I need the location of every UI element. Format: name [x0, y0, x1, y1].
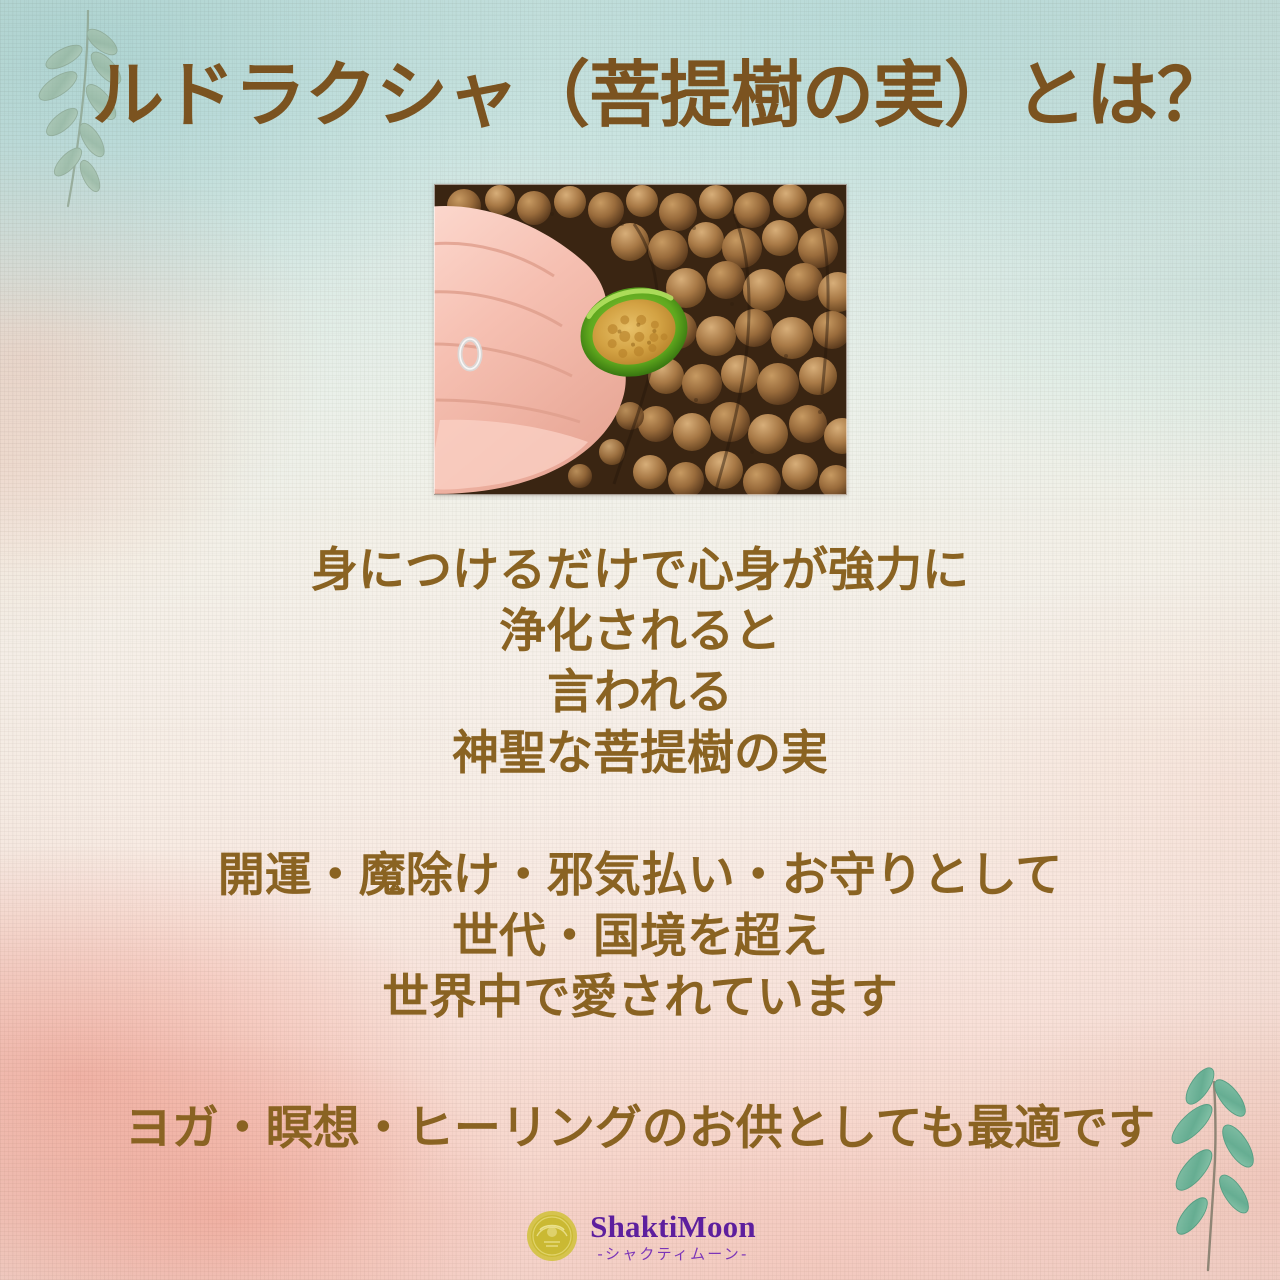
poster-canvas: ルドラクシャ（菩提樹の実）とは？	[0, 0, 1280, 1280]
text-block-3: ヨガ・瞑想・ヒーリングのお供としても最適です	[0, 1098, 1280, 1159]
brand-logo: ShaktiMoon -シャクティムーン-	[0, 1208, 1280, 1264]
text-line: 言われる	[0, 662, 1280, 723]
text-line: 世界中で愛されています	[0, 967, 1280, 1028]
text-line: 身につけるだけで心身が強力に	[0, 540, 1280, 601]
text-line: 世代・国境を超え	[0, 906, 1280, 967]
text-line: 開運・魔除け・邪気払い・お守りとして	[0, 845, 1280, 906]
text-block-1: 身につけるだけで心身が強力に 浄化されると 言われる 神聖な菩提樹の実	[0, 540, 1280, 784]
text-line: 浄化されると	[0, 601, 1280, 662]
page-title: ルドラクシャ（菩提樹の実）とは？	[0, 56, 1280, 135]
rudraksha-fruit-photo	[434, 184, 847, 495]
text-line: ヨガ・瞑想・ヒーリングのお供としても最適です	[0, 1098, 1280, 1159]
brand-subtitle: -シャクティムーン-	[597, 1247, 748, 1262]
brand-name: ShaktiMoon	[590, 1211, 756, 1242]
text-line: 神聖な菩提樹の実	[0, 723, 1280, 784]
shaktimoon-seal-icon	[524, 1208, 580, 1264]
text-block-2: 開運・魔除け・邪気払い・お守りとして 世代・国境を超え 世界中で愛されています	[0, 845, 1280, 1028]
